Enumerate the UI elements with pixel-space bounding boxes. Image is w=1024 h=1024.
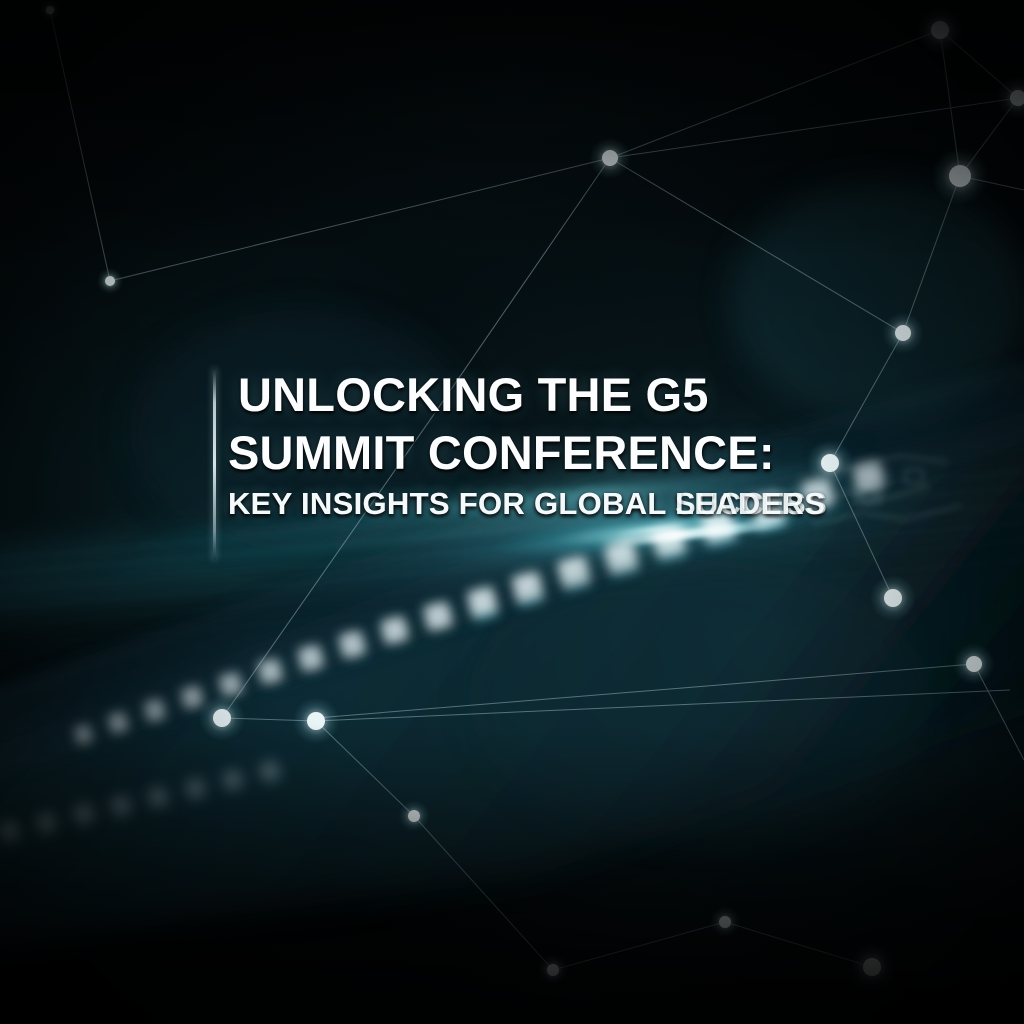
bottom-shade	[0, 724, 1024, 1024]
headline: UNLOCKING THE G5 SUMMIT CONFERENCE:	[228, 366, 848, 482]
headline-line-1: UNLOCKING THE G5	[228, 366, 848, 424]
accent-rule	[213, 368, 216, 560]
network-node	[105, 276, 115, 286]
network-node	[884, 589, 902, 607]
network-edge	[316, 664, 974, 718]
network-edge	[316, 690, 1010, 721]
headline-line-2: SUMMIT CONFERENCE:	[228, 424, 848, 482]
title-block: UNLOCKING THE G5 SUMMIT CONFERENCE: KEY …	[228, 366, 848, 526]
subheadline-variant-b: KEY INSIGHTS FOR GLOBAL LEADERS	[228, 486, 825, 522]
poster-canvas: UNLOCKING THE G5 SUMMIT CONFERENCE: KEY …	[0, 0, 1024, 1024]
subheadline: KEY INSIGHTS FOR GLOBAL SUCCESS KEY INSI…	[228, 486, 848, 526]
network-node	[895, 325, 911, 341]
top-shade	[0, 0, 1024, 260]
network-node	[966, 656, 982, 672]
